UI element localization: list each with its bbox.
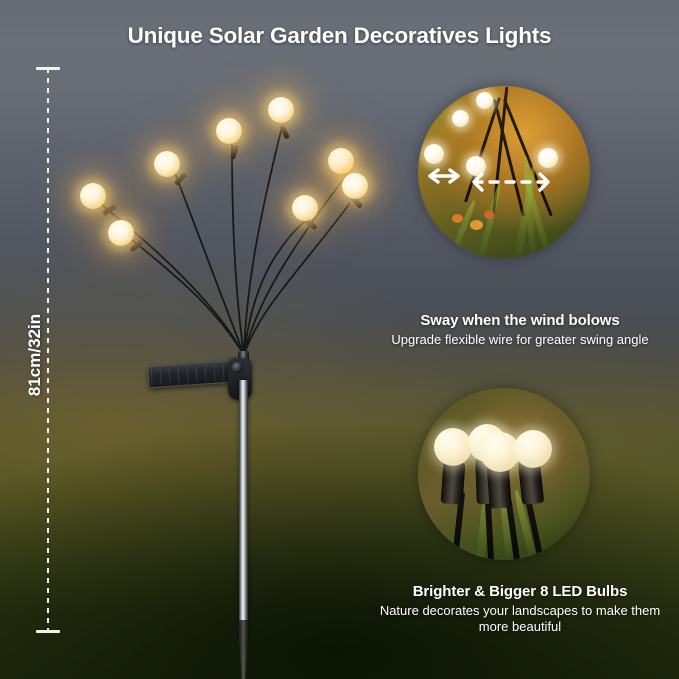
led-bulb-closeup — [434, 428, 472, 466]
dimension-dashed-line — [47, 68, 49, 632]
dimension-label: 81cm/32in — [25, 300, 45, 410]
feature-subtext: Upgrade flexible wire for greater swing … — [370, 332, 670, 348]
led-bulb — [154, 151, 180, 177]
led-bulb — [328, 148, 354, 174]
feature-photo-bulbs — [418, 388, 590, 560]
product-solar-light — [60, 55, 350, 655]
led-bulb — [80, 183, 106, 209]
feature-caption-bulbs: Brighter & Bigger 8 LED Bulbs Nature dec… — [370, 583, 670, 636]
pole — [239, 380, 248, 642]
motion-arrow-icon — [418, 86, 590, 258]
led-bulb — [108, 220, 134, 246]
feature-subtext: Nature decorates your landscapes to make… — [370, 603, 670, 636]
feature-photo-sway — [418, 86, 590, 258]
led-bulb — [216, 118, 242, 144]
page-title: Unique Solar Garden Decoratives Lights — [0, 23, 679, 49]
led-bulb — [342, 173, 368, 199]
bulb-holder — [441, 461, 466, 504]
wire-stems — [60, 55, 350, 655]
led-bulb — [268, 97, 294, 123]
feature-heading: Sway when the wind bolows — [370, 312, 670, 329]
dimension-cap-bottom — [36, 630, 60, 633]
led-bulb — [292, 195, 318, 221]
feature-caption-sway: Sway when the wind bolows Upgrade flexib… — [370, 312, 670, 348]
feature-heading: Brighter & Bigger 8 LED Bulbs — [370, 583, 670, 600]
led-bulb-closeup — [514, 430, 552, 468]
product-marketing-image: Unique Solar Garden Decoratives Lights 8… — [0, 0, 679, 679]
